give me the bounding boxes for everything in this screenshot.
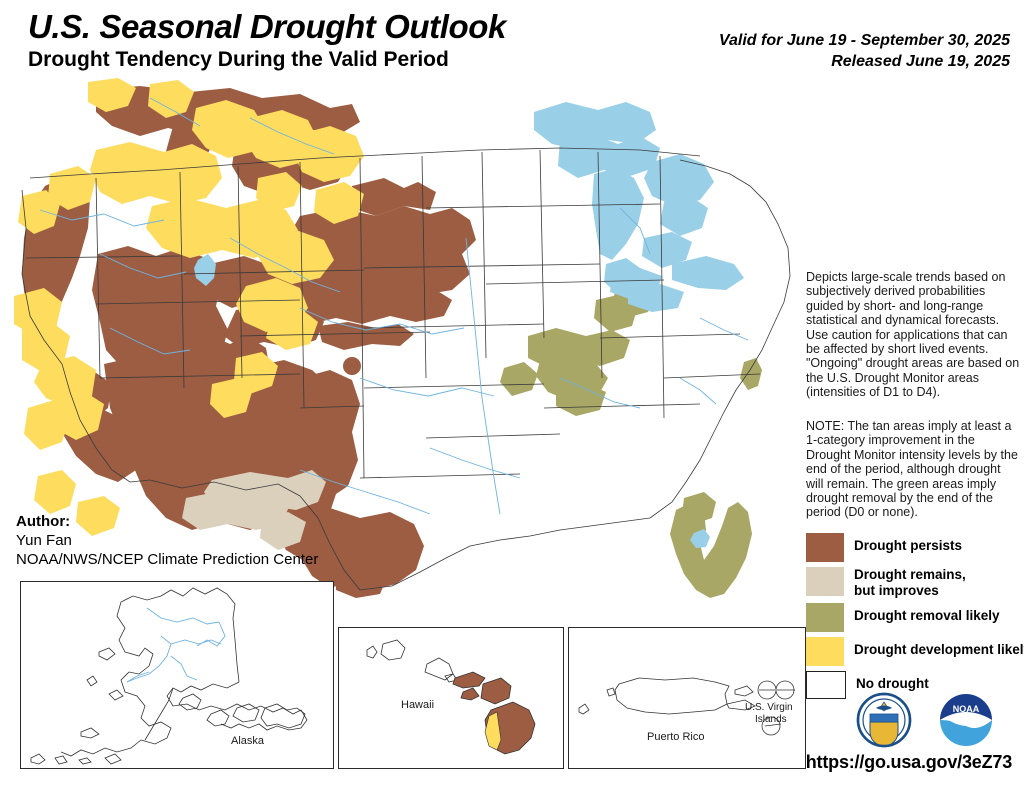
author-name: Yun Fan bbox=[16, 531, 318, 550]
legend-label-drought-removal-likely: Drought removal likely bbox=[854, 603, 1000, 623]
map-legend: Drought persists Drought remains, but im… bbox=[806, 533, 1022, 704]
department-of-commerce-seal-icon bbox=[858, 694, 910, 746]
legend-swatch-drought-persists bbox=[806, 533, 844, 562]
legend-label-line1: Drought remains, bbox=[854, 567, 966, 583]
inset-label-usvi-line2: Islands bbox=[755, 714, 787, 725]
page-title: U.S. Seasonal Drought Outlook bbox=[28, 8, 506, 46]
legend-item-drought-removal-likely: Drought removal likely bbox=[806, 603, 1022, 632]
page-subtitle: Drought Tendency During the Valid Period bbox=[28, 48, 449, 72]
noaa-logo-text: NOAA bbox=[953, 704, 980, 714]
legend-swatch-drought-removal-likely bbox=[806, 603, 844, 632]
legend-item-drought-development-likely: Drought development likely bbox=[806, 637, 1022, 666]
inset-label-usvi-line1: U.S. Virgin bbox=[745, 702, 793, 713]
note-text: NOTE: The tan areas imply at least a 1-c… bbox=[806, 419, 1021, 520]
legend-swatch-drought-remains-but-improves bbox=[806, 567, 844, 596]
inset-map-alaska: Alaska bbox=[20, 581, 334, 769]
inset-map-hawaii: Hawaii bbox=[338, 627, 564, 769]
author-block: Author: Yun Fan NOAA/NWS/NCEP Climate Pr… bbox=[16, 512, 318, 569]
legend-label-drought-persists: Drought persists bbox=[854, 533, 962, 553]
legend-swatch-drought-development-likely bbox=[806, 637, 844, 666]
legend-item-drought-persists: Drought persists bbox=[806, 533, 1022, 562]
inset-label-hawaii: Hawaii bbox=[401, 699, 434, 711]
description-text: Depicts large-scale trends based on subj… bbox=[806, 270, 1021, 400]
author-heading: Author: bbox=[16, 512, 318, 531]
valid-period-text: Valid for June 19 - September 30, 2025 bbox=[719, 32, 1010, 50]
agency-logos: NOAA bbox=[856, 692, 996, 748]
legend-label-line2: but improves bbox=[854, 583, 966, 599]
inset-label-alaska: Alaska bbox=[231, 735, 265, 747]
inset-label-puerto-rico: Puerto Rico bbox=[647, 731, 704, 743]
legend-label-no-drought: No drought bbox=[856, 671, 929, 691]
legend-label-drought-remains-but-improves: Drought remains, but improves bbox=[854, 567, 966, 598]
noaa-logo-icon: NOAA bbox=[940, 694, 992, 746]
url-link[interactable]: https://go.usa.gov/3eZ73 bbox=[806, 752, 1012, 773]
legend-swatch-no-drought bbox=[806, 671, 846, 699]
author-affiliation: NOAA/NWS/NCEP Climate Prediction Center bbox=[16, 550, 318, 569]
legend-label-drought-development-likely: Drought development likely bbox=[854, 637, 1024, 657]
legend-item-drought-remains-but-improves: Drought remains, but improves bbox=[806, 567, 1022, 598]
inset-map-puerto-rico: Puerto Rico U.S. Virgin Islands bbox=[568, 627, 806, 769]
released-date-text: Released June 19, 2025 bbox=[831, 53, 1010, 71]
